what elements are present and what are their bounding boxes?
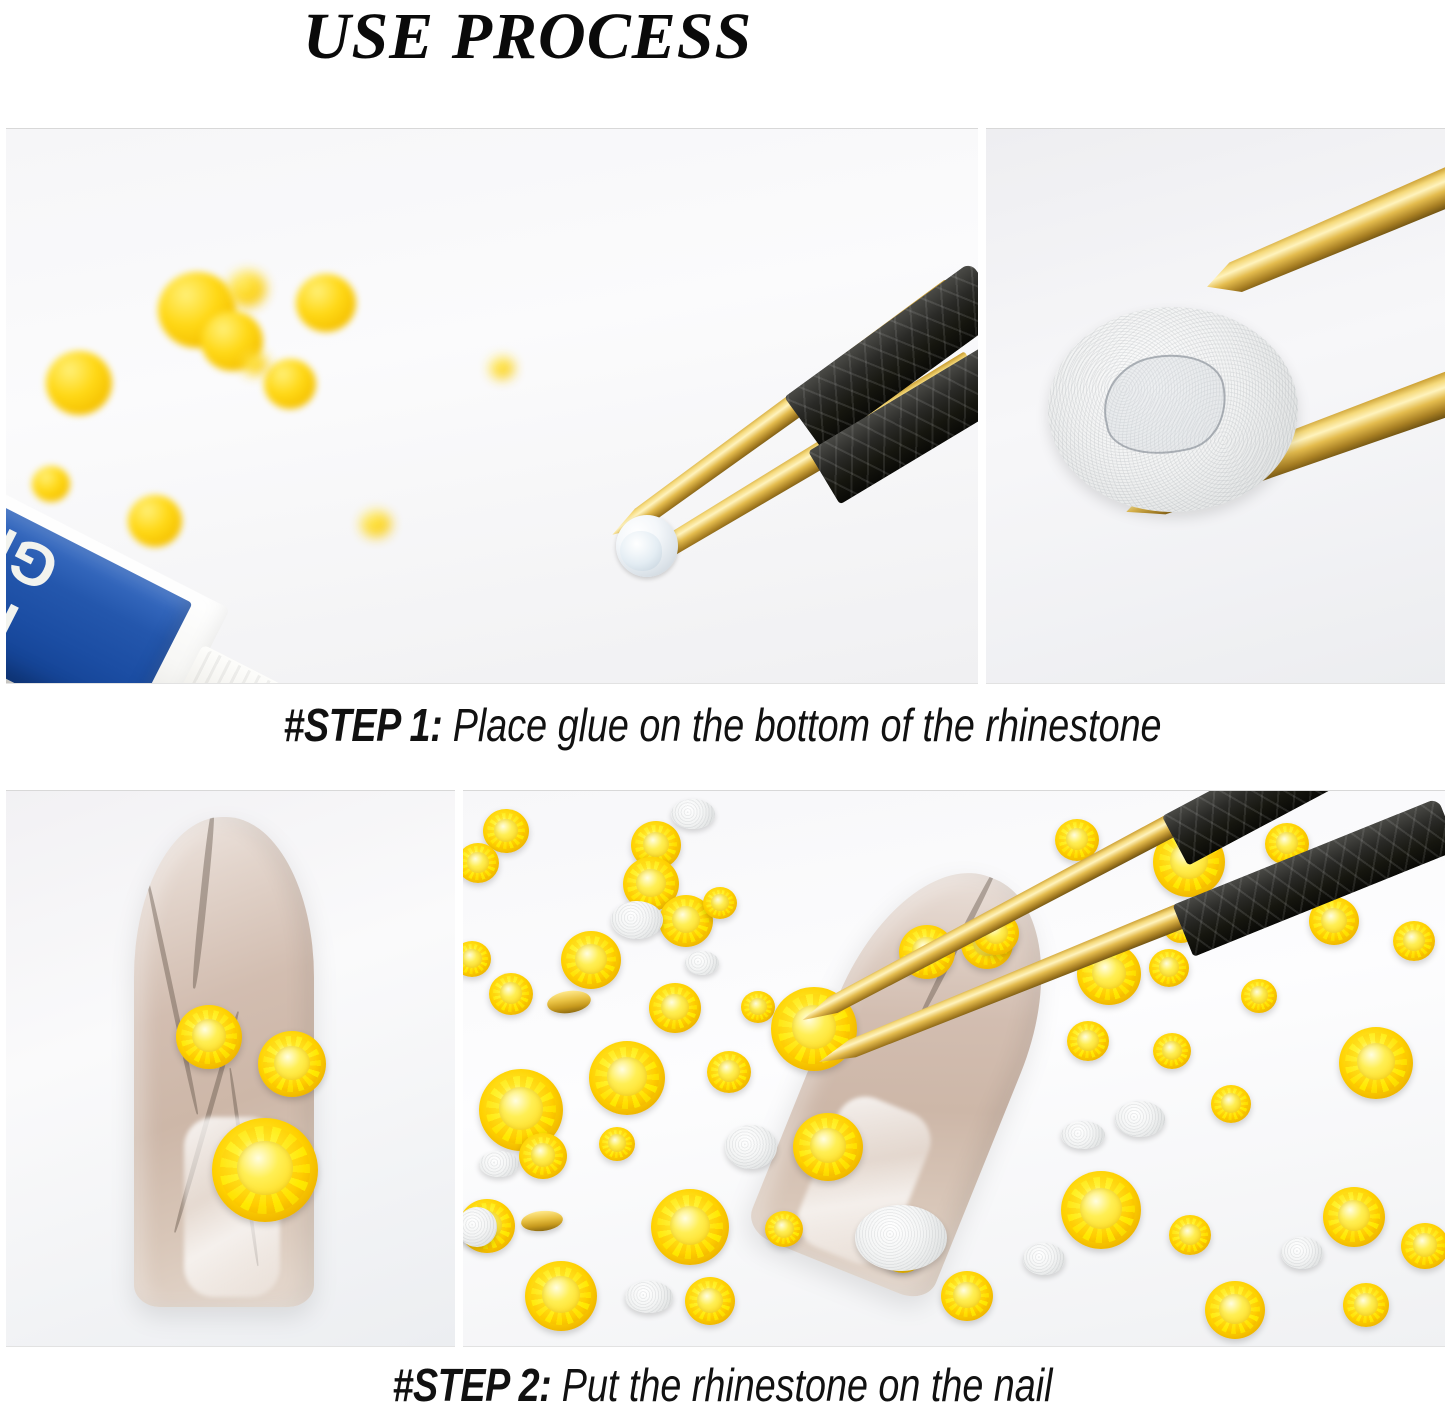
step-2-caption: #STEP 2: Put the rhinestone on the nail (130, 1358, 1315, 1412)
rhinestone-foil-back (1048, 307, 1298, 512)
rhinestone-foil-back (725, 1125, 777, 1169)
scattered-rhinestone (489, 973, 533, 1015)
scattered-rhinestone (1339, 1027, 1413, 1099)
blurred-rhinestone (128, 495, 182, 547)
rhinestone-foil-back (463, 1207, 497, 1247)
blurred-rhinestone (228, 271, 266, 307)
photo-rhinestone-placement (463, 790, 1445, 1347)
scattered-rhinestone (765, 1211, 803, 1247)
rhinestone-on-nail (212, 1118, 318, 1222)
rhinestone-foil-back (855, 1205, 947, 1271)
scattered-rhinestone (561, 931, 621, 989)
blurred-rhinestone (296, 274, 356, 332)
scattered-rhinestone (793, 1113, 863, 1181)
rhinestone-foil-back (625, 1281, 673, 1313)
step-1-label: #STEP 1: (283, 699, 442, 751)
rhinestone-foil-back (685, 951, 719, 975)
rhinestone-foil-back (611, 901, 663, 939)
scattered-rhinestone (519, 1133, 567, 1179)
step-1-text: Place glue on the bottom of the rhinesto… (442, 699, 1161, 751)
blurred-rhinestone (490, 357, 514, 379)
rhinestone-foil-back (479, 1151, 519, 1177)
rhinestone-foil-back (1023, 1243, 1065, 1275)
scattered-rhinestone (1067, 1021, 1109, 1061)
blurred-rhinestone (264, 359, 316, 409)
scattered-rhinestone (1153, 1033, 1191, 1069)
scattered-rhinestone (651, 1189, 729, 1265)
scattered-rhinestone (1205, 1281, 1265, 1339)
blurred-rhinestone (32, 466, 70, 502)
scattered-rhinestone (703, 887, 737, 919)
photo-glue-application: Glue Rhin (6, 128, 978, 684)
scattered-rhinestone (1061, 1171, 1141, 1249)
scattered-rhinestone (525, 1261, 597, 1331)
rhinestone-foil-back (1281, 1237, 1323, 1269)
scattered-rhinestone (1149, 949, 1189, 987)
scattered-rhinestone (1393, 921, 1435, 961)
step-2-panel-row (6, 790, 1445, 1345)
scattered-rhinestone (1343, 1283, 1389, 1327)
blurred-rhinestone (46, 351, 112, 415)
blurred-rhinestone (361, 511, 391, 537)
scattered-rhinestone (1323, 1187, 1385, 1247)
step-1-panel-row: Glue Rhin (6, 128, 1445, 682)
scattered-rhinestone (589, 1041, 665, 1115)
panel-gap (455, 790, 463, 1345)
page-title: USE PROCESS (0, 2, 1445, 72)
scattered-rhinestone (1211, 1085, 1251, 1123)
scattered-rhinestone (1401, 1223, 1445, 1269)
blurred-rhinestone (242, 353, 268, 375)
nail-marble-vein (145, 879, 200, 1115)
scattered-rhinestone (599, 1127, 635, 1161)
panel-gap (978, 128, 986, 682)
scattered-rhinestone (741, 991, 775, 1023)
step-1-caption: #STEP 1: Place glue on the bottom of the… (130, 698, 1315, 752)
scattered-rhinestone (941, 1271, 993, 1321)
nail-marble-vein (191, 817, 217, 989)
scattered-rhinestone (649, 983, 701, 1033)
rhinestone-on-nail (258, 1031, 326, 1097)
step-2-label: #STEP 2: (392, 1359, 551, 1411)
scattered-rhinestone (1169, 1215, 1211, 1255)
scattered-rhinestone (707, 1051, 751, 1093)
rhinestone-foil-back (1061, 1121, 1105, 1149)
rhinestone-foil-back (671, 799, 715, 829)
rhinestone-on-nail (176, 1005, 242, 1069)
step-2-text: Put the rhinestone on the nail (551, 1359, 1052, 1411)
scattered-rhinestone (685, 1277, 735, 1325)
glue-droplet (620, 531, 662, 571)
rhinestone-foil-back (1115, 1101, 1165, 1137)
photo-rhinestone-backing-closeup (986, 128, 1445, 684)
scattered-rhinestone (1241, 979, 1277, 1013)
photo-finished-nail (6, 790, 455, 1347)
